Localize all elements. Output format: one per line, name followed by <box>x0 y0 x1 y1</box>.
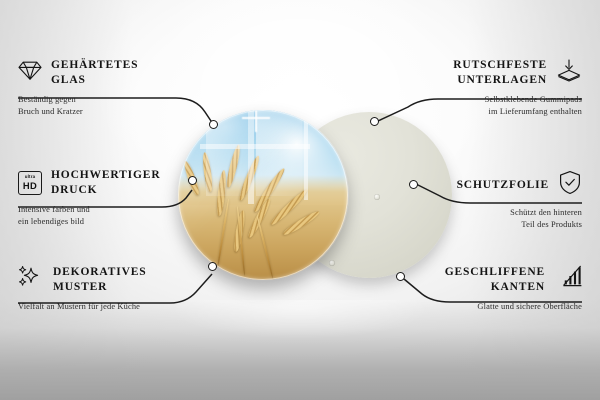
feature-gehaertetes-glas: GEHÄRTETES GLAS Beständig gegen Bruch un… <box>18 58 228 117</box>
connector-dot-gehaertetes-glas <box>209 120 218 129</box>
feature-subtitle: Selbstklebende Gummipads im Lieferumfang… <box>372 94 582 117</box>
feature-title: GEHÄRTETES GLAS <box>51 58 138 87</box>
feature-title: RUTSCHFESTE UNTERLAGEN <box>453 58 547 87</box>
feature-title: DEKORATIVES MUSTER <box>53 265 147 294</box>
diagonal-stripes-icon <box>554 265 582 294</box>
ultra-hd-icon-small-label: ultra <box>25 175 36 179</box>
feature-subtitle: Beständig gegen Bruch und Kratzer <box>18 94 228 117</box>
shield-check-icon <box>558 170 582 200</box>
feature-subtitle: Intensive farben und ein lebendiges bild <box>18 204 228 227</box>
sparkle-icon <box>18 265 44 294</box>
infographic-canvas: GEHÄRTETES GLAS Beständig gegen Bruch un… <box>0 0 600 400</box>
connector-dot-rutschfeste-unterlagen <box>370 117 379 126</box>
arrow-down-onto-pad-icon <box>556 58 582 87</box>
feature-title: GESCHLIFFENE KANTEN <box>445 265 545 294</box>
feature-dekoratives-muster: DEKORATIVES MUSTER Vielfalt an Mustern f… <box>18 265 238 313</box>
feature-title: HOCHWERTIGER DRUCK <box>51 168 160 197</box>
feature-schutzfolie: SCHUTZFOLIE Schützt den hinteren Teil de… <box>372 170 582 230</box>
ultra-hd-icon-large-label: HD <box>23 181 37 190</box>
feature-geschliffene-kanten: GESCHLIFFENE KANTEN Glatte und sichere O… <box>362 265 582 313</box>
feature-subtitle: Glatte und sichere Oberfläche <box>362 301 582 313</box>
diamond-icon <box>18 60 42 86</box>
ultra-hd-icon: ultra HD <box>18 171 42 195</box>
feature-subtitle: Schützt den hinteren Teil des Produkts <box>372 207 582 230</box>
feature-rutschfeste-unterlagen: RUTSCHFESTE UNTERLAGEN Selbstklebende Gu… <box>372 58 582 117</box>
feature-hochwertiger-druck: ultra HD HOCHWERTIGER DRUCK Intensive fa… <box>18 168 228 227</box>
feature-title: SCHUTZFOLIE <box>457 178 549 193</box>
feature-subtitle: Vielfalt an Mustern für jede Küche <box>18 301 238 313</box>
